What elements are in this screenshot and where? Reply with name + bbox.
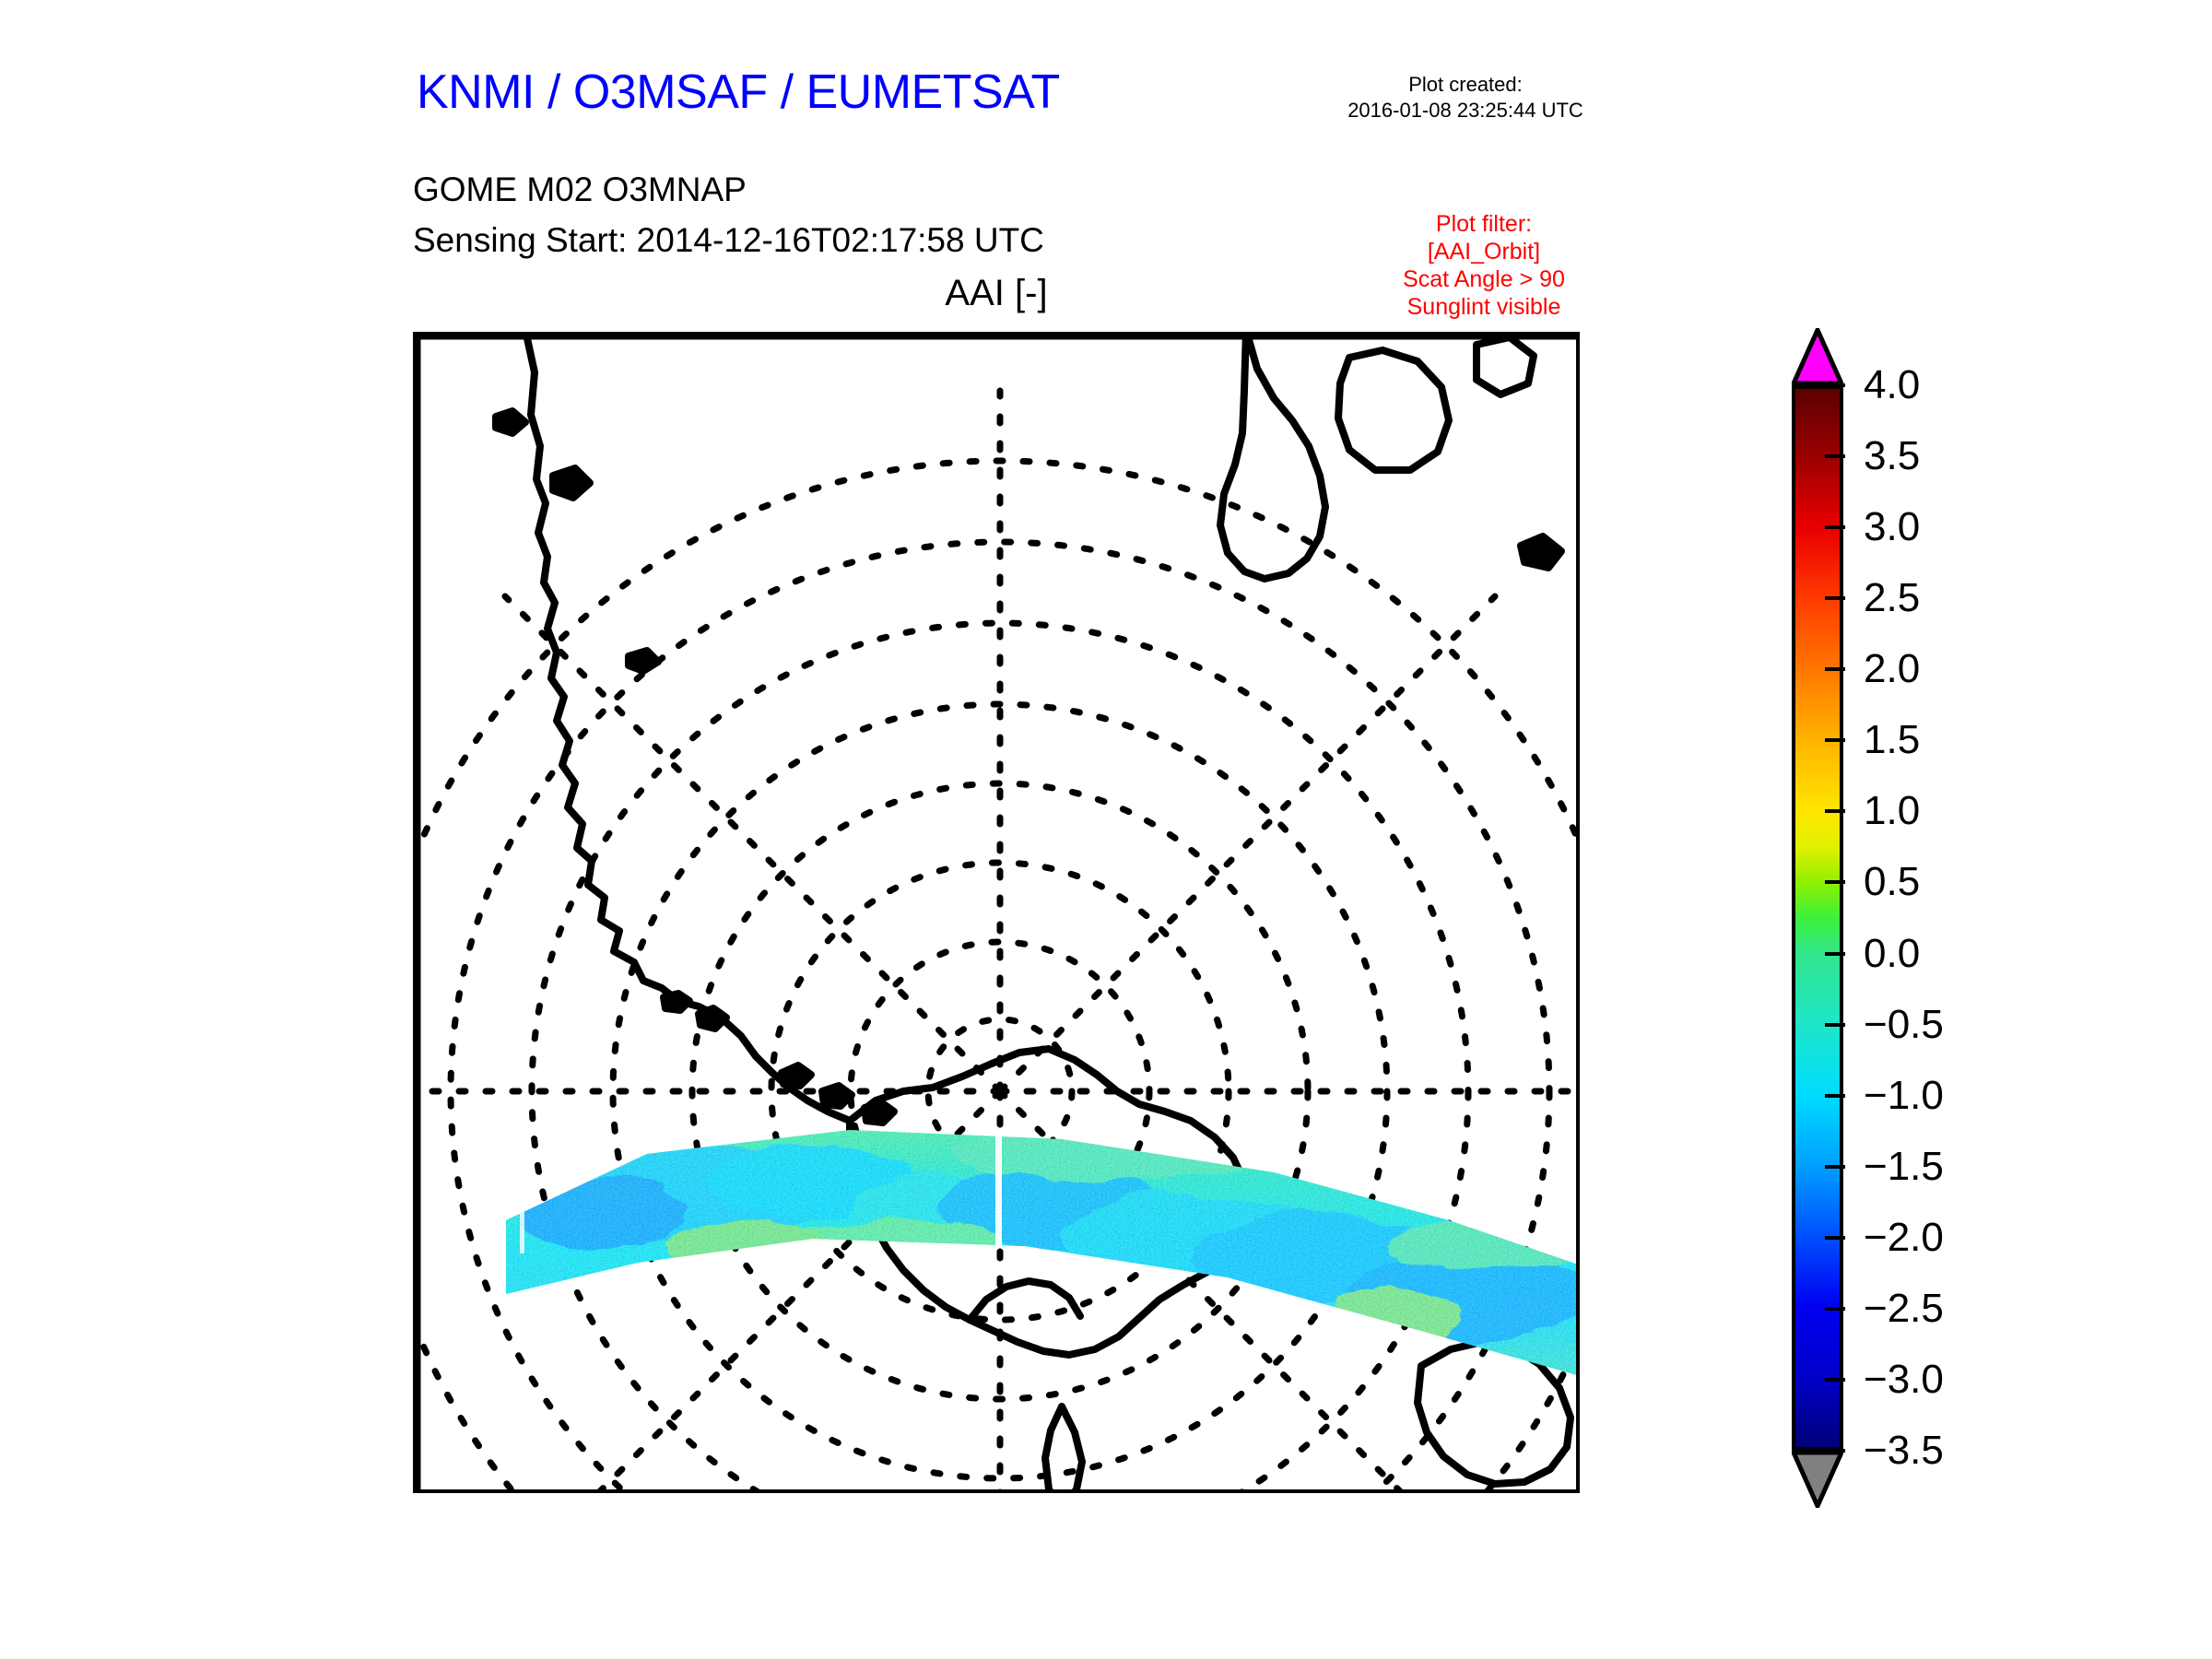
colorbar-tick-label: −2.0 <box>1864 1218 1944 1258</box>
colorbar-under-arrow <box>1792 1451 1843 1508</box>
colorbar-tick-label: −2.5 <box>1864 1288 1944 1329</box>
colorbar-over-arrow <box>1792 328 1843 385</box>
plot-filter-product: [AAI_Orbit] <box>1346 238 1622 265</box>
plot-created-block: Plot created: 2016-01-08 23:25:44 UTC <box>1318 72 1613 124</box>
colorbar-tick <box>1825 1236 1845 1240</box>
colorbar: 4.03.53.02.52.01.51.00.50.0−0.5−1.0−1.5−… <box>1792 328 2050 1489</box>
colorbar-gradient <box>1792 385 1843 1451</box>
plot-filter-label: Plot filter: <box>1346 210 1622 238</box>
colorbar-tick <box>1825 1307 1845 1311</box>
polar-stereographic-map <box>417 335 1580 1493</box>
colorbar-tick-label: 0.0 <box>1864 934 1920 974</box>
colorbar-tick-label: −0.5 <box>1864 1005 1944 1045</box>
colorbar-tick <box>1825 1023 1845 1027</box>
colorbar-tick-label: 1.5 <box>1864 720 1920 760</box>
colorbar-tick <box>1825 667 1845 671</box>
colorbar-tick <box>1825 383 1845 387</box>
plot-title: AAI [-] <box>413 273 1580 314</box>
colorbar-tick <box>1825 1165 1845 1169</box>
colorbar-tick-label: 2.0 <box>1864 649 1920 689</box>
colorbar-tick <box>1825 738 1845 742</box>
dataset-name: GOME M02 O3MNAP <box>413 171 747 209</box>
organisation-title: KNMI / O3MSAF / EUMETSAT <box>417 65 1060 120</box>
colorbar-tick-label: 0.5 <box>1864 862 1920 902</box>
colorbar-tick <box>1825 454 1845 458</box>
colorbar-tick-label: 1.0 <box>1864 791 1920 831</box>
colorbar-tick-label: −3.0 <box>1864 1359 1944 1400</box>
colorbar-tick <box>1825 1378 1845 1382</box>
sensing-start: Sensing Start: 2014-12-16T02:17:58 UTC <box>413 221 1044 260</box>
colorbar-tick <box>1825 952 1845 956</box>
map-plot-area <box>413 332 1580 1493</box>
colorbar-tick-label: 2.5 <box>1864 578 1920 618</box>
colorbar-tick-label: 3.5 <box>1864 436 1920 477</box>
colorbar-tick <box>1825 596 1845 600</box>
colorbar-tick-label: −1.5 <box>1864 1147 1944 1187</box>
colorbar-tick-label: −1.0 <box>1864 1076 1944 1116</box>
colorbar-tick <box>1825 809 1845 813</box>
plot-created-timestamp: 2016-01-08 23:25:44 UTC <box>1318 98 1613 124</box>
plot-created-label: Plot created: <box>1318 72 1613 98</box>
colorbar-tick-label: −3.5 <box>1864 1430 1944 1471</box>
colorbar-tick <box>1825 525 1845 529</box>
colorbar-tick <box>1825 1094 1845 1098</box>
colorbar-tick-label: 3.0 <box>1864 507 1920 547</box>
colorbar-tick <box>1825 1449 1845 1453</box>
colorbar-tick <box>1825 880 1845 884</box>
colorbar-tick-label: 4.0 <box>1864 365 1920 406</box>
